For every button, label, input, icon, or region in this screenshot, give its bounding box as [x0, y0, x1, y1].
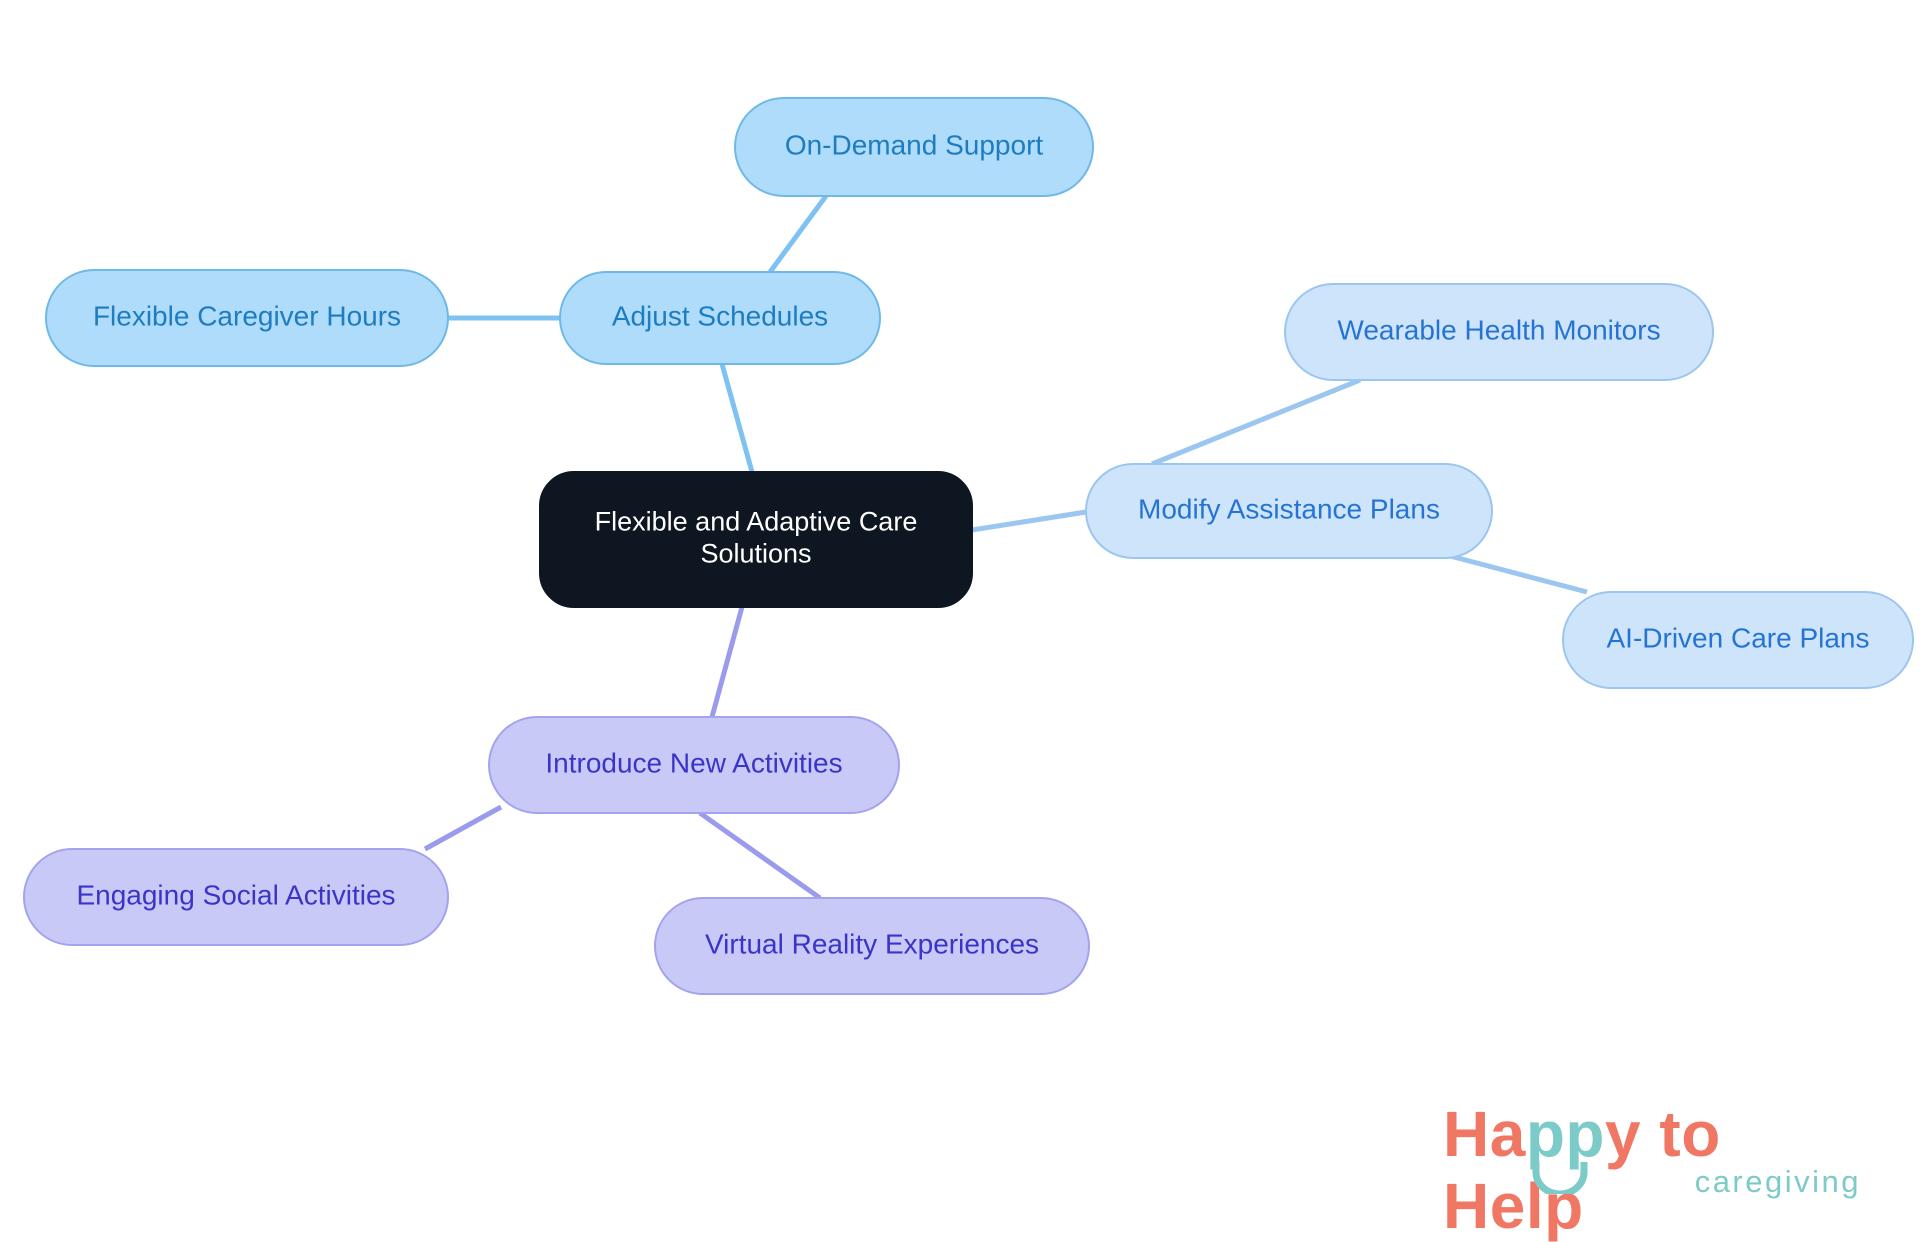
brand-logo: Happy to Help caregiving	[1443, 1098, 1863, 1206]
node-label-virtual-reality-experiences: Virtual Reality Experiences	[705, 928, 1039, 959]
logo-happy-part3: y	[1605, 1098, 1641, 1170]
mindmap-node-root[interactable]: Flexible and Adaptive CareSolutions	[540, 472, 972, 607]
logo-to: to	[1641, 1098, 1721, 1170]
edge-modify-wearable	[1152, 380, 1360, 464]
edge-modify-ai	[1435, 552, 1587, 592]
mindmap-node-virtual-reality-experiences[interactable]: Virtual Reality Experiences	[655, 898, 1089, 994]
smile-arc-icon	[1532, 1160, 1588, 1194]
mindmap-node-modify-assistance-plans[interactable]: Modify Assistance Plans	[1086, 464, 1492, 558]
mindmap-node-wearable-health-monitors[interactable]: Wearable Health Monitors	[1285, 284, 1713, 380]
node-label-ai-driven-care-plans: AI-Driven Care Plans	[1607, 622, 1870, 653]
edge-adjust-ondemand	[770, 196, 826, 272]
node-label-flexible-caregiver-hours: Flexible Caregiver Hours	[93, 300, 401, 331]
logo-tagline: caregiving	[1695, 1164, 1861, 1200]
node-label-root: Solutions	[700, 539, 811, 569]
edge-root-adjust	[722, 364, 752, 472]
node-label-adjust-schedules: Adjust Schedules	[612, 300, 828, 331]
mindmap-node-flexible-caregiver-hours[interactable]: Flexible Caregiver Hours	[46, 270, 448, 366]
edge-introduce-vr	[700, 813, 820, 898]
mindmap-node-adjust-schedules[interactable]: Adjust Schedules	[560, 272, 880, 364]
edge-root-modify	[972, 512, 1086, 530]
node-label-on-demand-support: On-Demand Support	[785, 129, 1044, 160]
mindmap-node-introduce-new-activities[interactable]: Introduce New Activities	[489, 717, 899, 813]
node-label-modify-assistance-plans: Modify Assistance Plans	[1138, 493, 1440, 524]
node-label-introduce-new-activities: Introduce New Activities	[545, 747, 842, 778]
node-label-engaging-social-activities: Engaging Social Activities	[76, 879, 395, 910]
mindmap-node-engaging-social-activities[interactable]: Engaging Social Activities	[24, 849, 448, 945]
nodes-layer: On-Demand SupportFlexible Caregiver Hour…	[24, 98, 1913, 994]
logo-happy-part1: Ha	[1443, 1098, 1526, 1170]
mindmap-node-on-demand-support[interactable]: On-Demand Support	[735, 98, 1093, 196]
mindmap-canvas: On-Demand SupportFlexible Caregiver Hour…	[0, 0, 1920, 1215]
edge-root-introduce	[712, 607, 742, 717]
node-label-wearable-health-monitors: Wearable Health Monitors	[1337, 314, 1660, 345]
node-label-root: Flexible and Adaptive Care	[595, 507, 918, 537]
edge-introduce-engaging	[425, 807, 501, 849]
mindmap-node-ai-driven-care-plans[interactable]: AI-Driven Care Plans	[1563, 592, 1913, 688]
